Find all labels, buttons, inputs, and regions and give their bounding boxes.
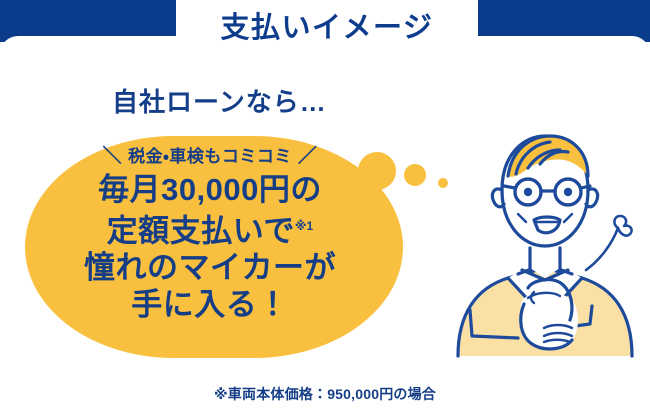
bubble-line-2-row: 定額支払いで※1 xyxy=(20,208,400,249)
speech-bubble-text: ＼税金・車検もコミコミ／ 毎月30,000円の 定額支払いで※1 憧れのマイカー… xyxy=(20,130,400,358)
footer-note: ※車両本体価格：950,000円の場合 xyxy=(0,384,650,404)
bubble-main-lines: 毎月30,000円の 定額支払いで※1 憧れのマイカーが 手に入る！ xyxy=(20,171,400,323)
payment-image-panel: 支払いイメージ 自社ローンなら… ＼税金・車検もコミコミ／ 毎月30,000円の… xyxy=(0,0,650,408)
bubble-kicker-label: 税金・車検もコミコミ xyxy=(128,147,292,166)
slash-right-icon: ／ xyxy=(292,146,324,168)
bubble-line-3: 憧れのマイカーが xyxy=(20,249,400,286)
speech-bubble-dot-medium xyxy=(404,164,426,186)
lead-heading: 自社ローンなら… xyxy=(112,82,327,119)
bubble-kicker-row: ＼税金・車検もコミコミ／ xyxy=(20,146,400,168)
footnote-mark: ※1 xyxy=(295,219,313,233)
bubble-line-1: 毎月30,000円の xyxy=(20,171,400,208)
bubble-line-4: 手に入る！ xyxy=(20,286,400,323)
page-title: 支払いイメージ xyxy=(176,9,478,47)
highlight-speech-bubble: ＼税金・車検もコミコミ／ 毎月30,000円の 定額支払いで※1 憧れのマイカー… xyxy=(20,130,420,365)
illustration-smiling-man xyxy=(440,128,650,363)
slash-left-icon: ＼ xyxy=(97,146,129,168)
bubble-line-2: 定額支払いで xyxy=(107,213,295,248)
